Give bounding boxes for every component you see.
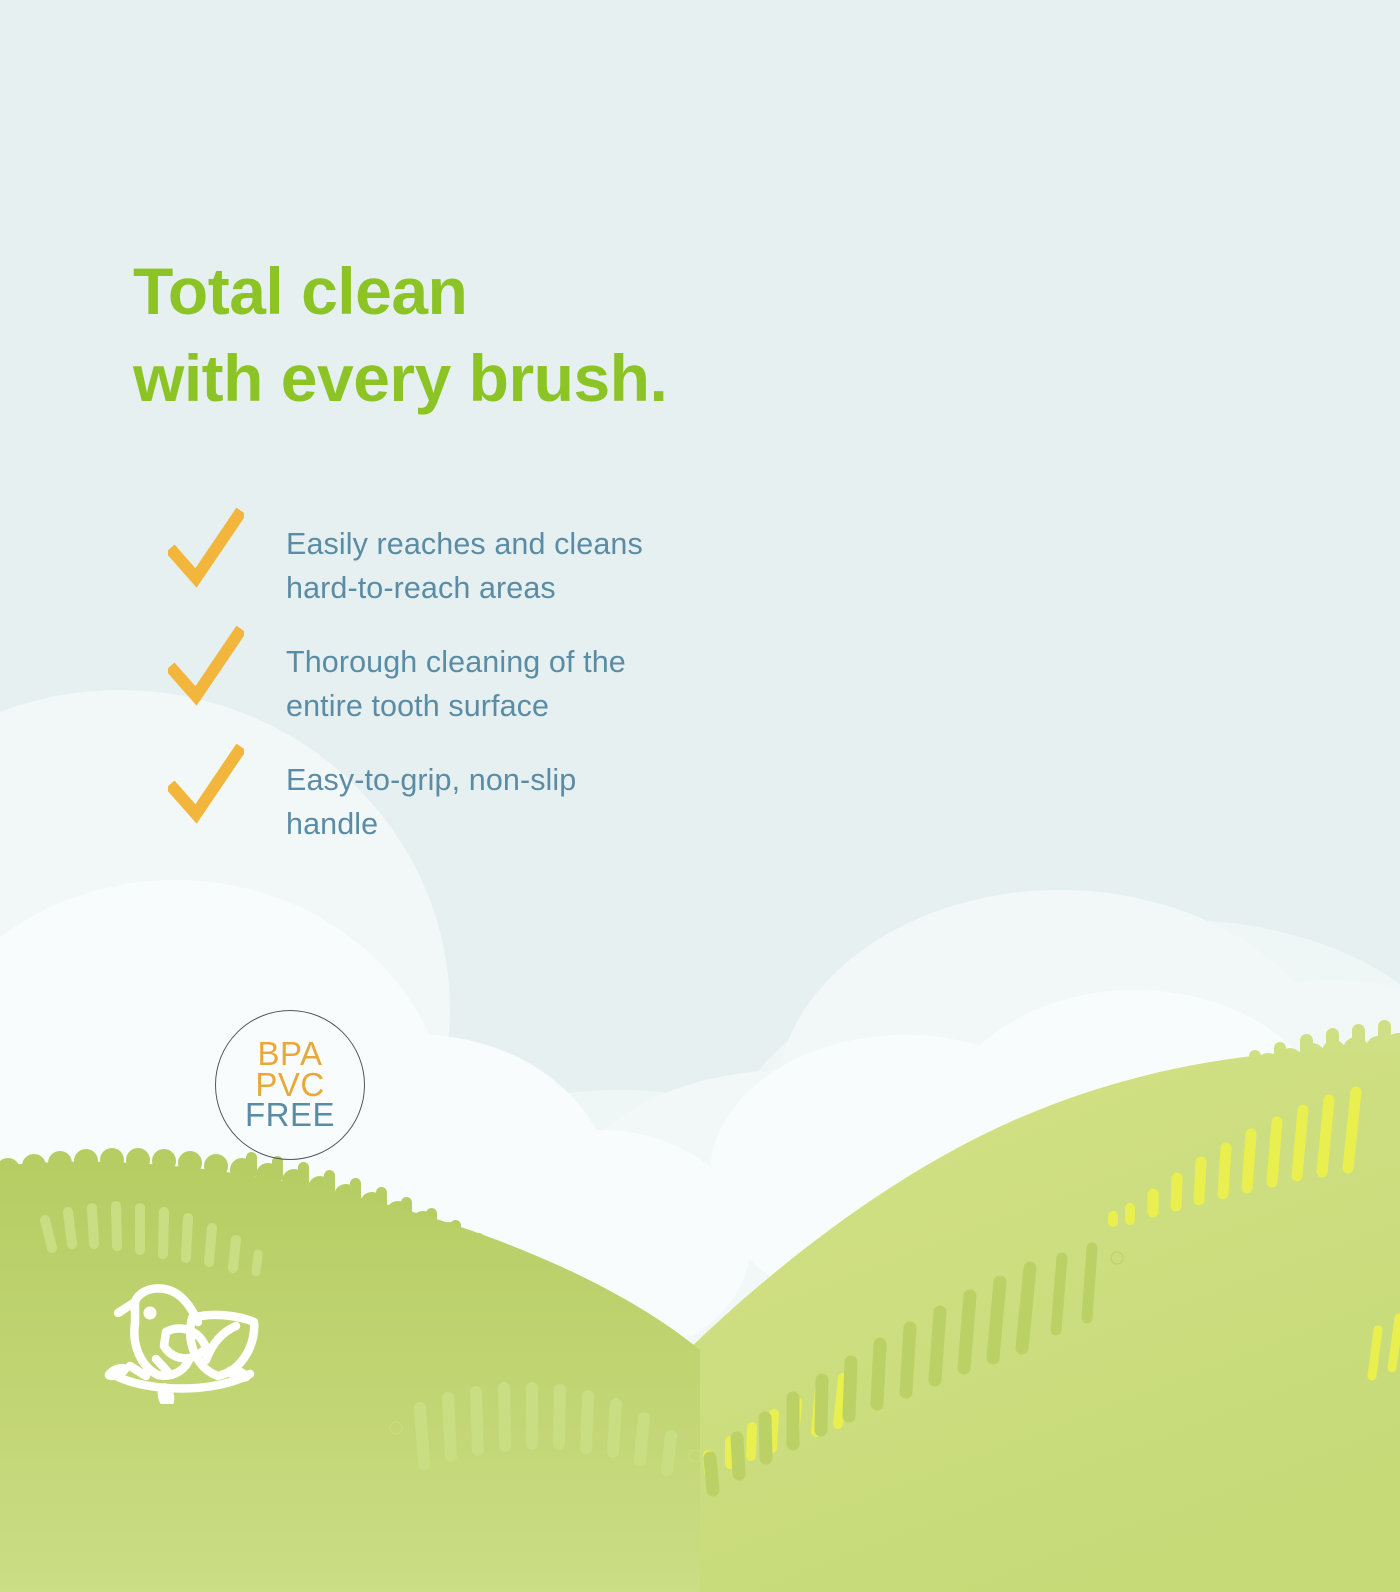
bpa-pvc-free-badge: BPA PVC FREE (215, 1010, 365, 1160)
list-item-label: Thorough cleaning of the entire tooth su… (286, 624, 626, 728)
feature-list: Easily reaches and cleans hard-to-reach … (168, 506, 788, 860)
bird-leaf-branch-logo (88, 1272, 284, 1404)
list-item: Easy-to-grip, non-slip handle (168, 742, 788, 860)
marketing-poster: Total clean with every brush. Easily rea… (0, 0, 1400, 1592)
list-item-label: Easy-to-grip, non-slip handle (286, 742, 576, 846)
list-item: Easily reaches and cleans hard-to-reach … (168, 506, 788, 624)
list-item: Thorough cleaning of the entire tooth su… (168, 624, 788, 742)
checkmark-icon (168, 506, 286, 588)
badge-line-free: FREE (245, 1100, 335, 1131)
checkmark-icon (168, 742, 286, 824)
page-title: Total clean with every brush. (133, 248, 667, 422)
list-item-label: Easily reaches and cleans hard-to-reach … (286, 506, 643, 610)
checkmark-icon (168, 624, 286, 706)
